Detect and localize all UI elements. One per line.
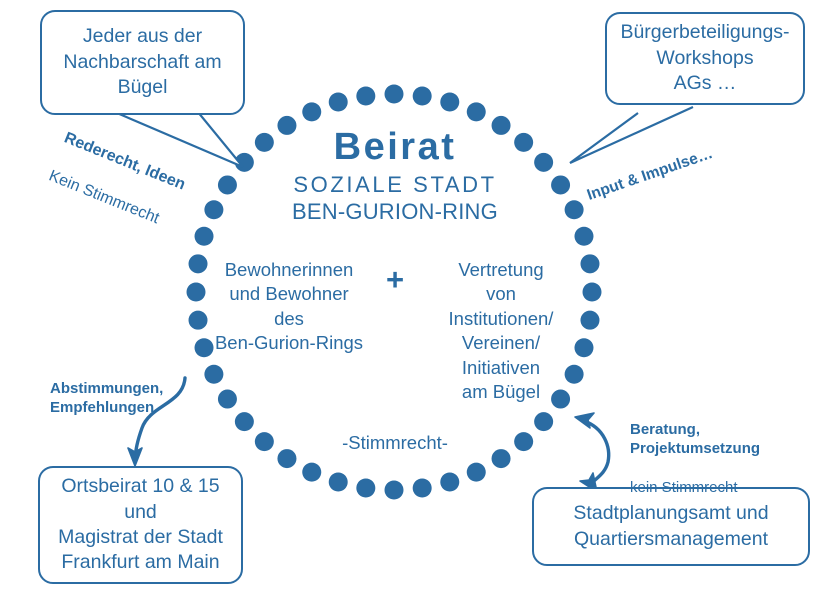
ring-dot (440, 472, 459, 491)
ring-dot (356, 478, 375, 497)
ring-dot (467, 102, 486, 121)
circle-subheading-1: SOZIALE STADT (250, 171, 540, 200)
ring-dot (467, 463, 486, 482)
ring-dot (235, 412, 254, 431)
box-ortsbeirat-label: Ortsbeirat 10 & 15 und Magistrat der Sta… (58, 474, 223, 575)
arrowhead-abstimmungen-down (128, 448, 142, 466)
ring-dot (574, 227, 593, 246)
caption-input-bold: Input & Impulse… (584, 128, 761, 205)
bubble-participation: Bürgerbeteiligungs- Workshops AGs … (605, 12, 805, 105)
ring-dot (534, 412, 553, 431)
circle-footer-note: -Stimmrecht- (275, 432, 515, 454)
ring-dot (514, 432, 533, 451)
ring-dot (583, 283, 602, 302)
caption-abstimmungen-bold: Abstimmungen, Empfehlungen (50, 379, 230, 417)
circle-heading: Beirat (250, 128, 540, 168)
ring-dot (413, 87, 432, 106)
bubble-participation-label: Bürgerbeteiligungs- Workshops AGs … (620, 20, 789, 96)
ring-dot (329, 93, 348, 112)
caption-beratung-regular: kein Stimmrecht (630, 478, 820, 497)
circle-left-column: Bewohnerinnen und Bewohner des Ben-Gurio… (205, 258, 373, 356)
arrow-beratung (584, 421, 609, 484)
circle-title-block: Beirat SOZIALE STADT BEN-GURION-RING (250, 128, 540, 226)
arrowhead-beratung-upleft (575, 413, 594, 428)
box-ortsbeirat: Ortsbeirat 10 & 15 und Magistrat der Sta… (38, 466, 243, 584)
ring-dot (255, 432, 274, 451)
ring-dot (302, 102, 321, 121)
caption-rederecht: Rederecht, Ideen Kein Stimmrecht (38, 110, 262, 280)
ring-dot (565, 200, 584, 219)
ring-dot (302, 463, 321, 482)
bubble-neighbourhood: Jeder aus der Nachbarschaft am Bügel (40, 10, 245, 115)
ring-dot (551, 175, 570, 194)
ring-dot (385, 481, 404, 500)
ring-dot (385, 85, 404, 104)
circle-subheading-2: BEN-GURION-RING (250, 199, 540, 225)
ring-dot (440, 93, 459, 112)
diagram-canvas: Jeder aus der Nachbarschaft am Bügel Bür… (0, 0, 820, 600)
ring-dot (329, 472, 348, 491)
plus-icon: + (373, 258, 417, 295)
bubble-neighbourhood-label: Jeder aus der Nachbarschaft am Bügel (63, 24, 221, 100)
ring-dot (187, 283, 206, 302)
caption-beratung-bold: Beratung, Projektumsetzung (630, 420, 820, 458)
ring-dot (356, 87, 375, 106)
caption-beratung: Beratung, Projektumsetzung kein Stimmrec… (630, 401, 820, 516)
ring-dot (413, 478, 432, 497)
circle-member-columns: Bewohnerinnen und Bewohner des Ben-Gurio… (205, 258, 585, 404)
circle-right-column: Vertretung von Institutionen/ Vereinen/ … (417, 258, 585, 404)
caption-input: Input & Impulse… (578, 109, 768, 224)
caption-abstimmungen: Abstimmungen, Empfehlungen (50, 360, 230, 437)
